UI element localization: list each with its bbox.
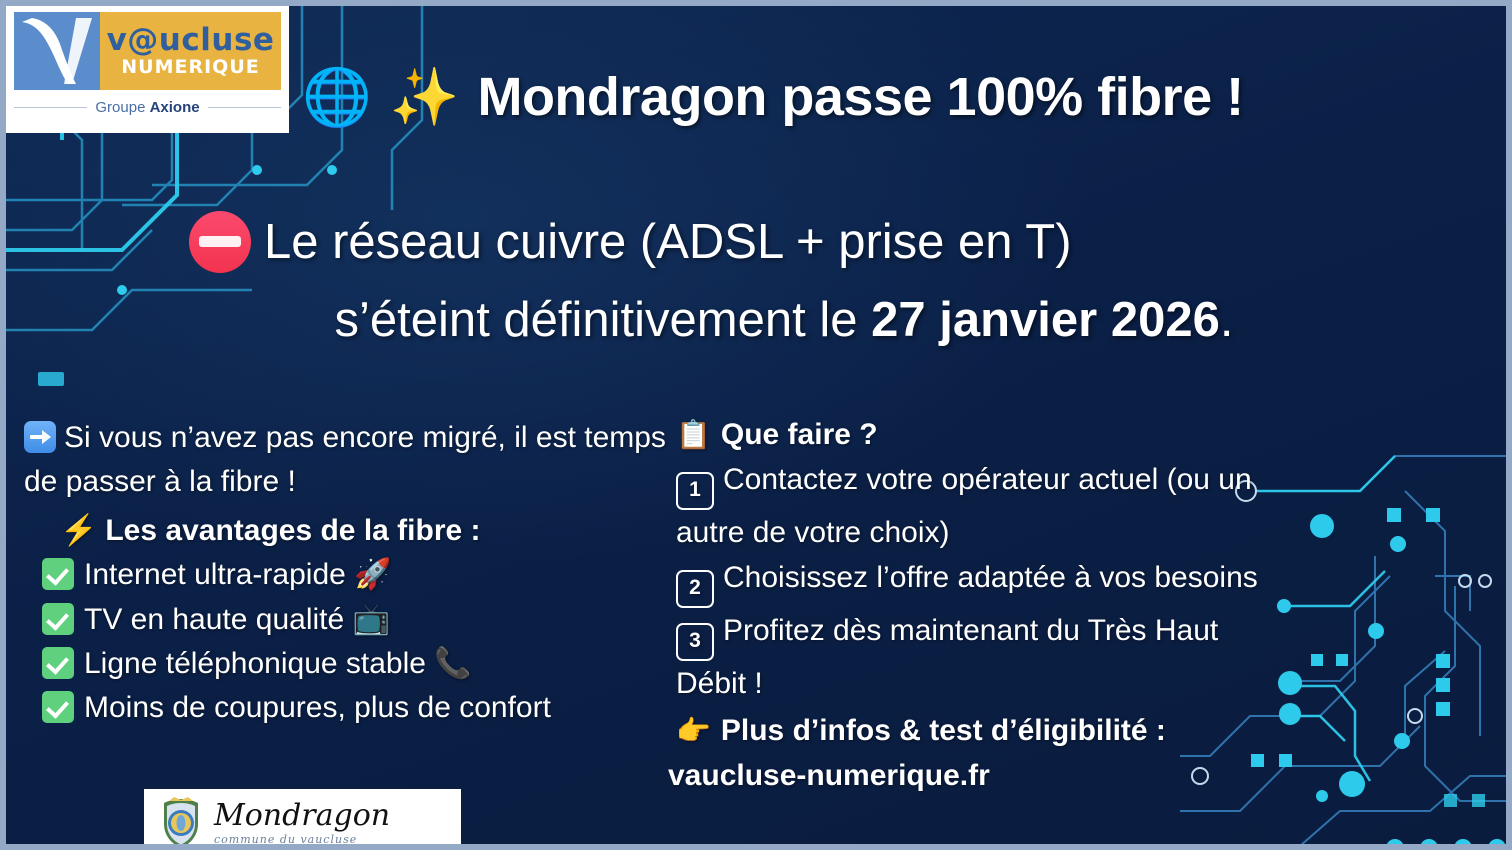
advantage-text: Internet ultra-rapide	[84, 558, 354, 591]
logo-word-numerique: NUMERIQUE	[121, 58, 259, 77]
clipboard-icon: 📋	[676, 419, 711, 450]
coat-of-arms-icon	[158, 796, 204, 850]
step-number-badge: 2	[676, 570, 714, 608]
high-voltage-icon: ⚡	[60, 514, 97, 547]
logo-top-band: v@ucluse NUMERIQUE	[14, 12, 281, 90]
check-mark-button-icon	[42, 647, 74, 679]
logo-rule-left	[14, 107, 87, 108]
globe-with-meridians-icon: 🌐	[302, 69, 372, 125]
what-to-do-title-row: 📋Que faire ?	[676, 412, 1268, 457]
shutdown-date: 27 janvier 2026	[871, 293, 1220, 347]
step-text: Contactez votre opérateur actuel (ou un …	[676, 463, 1252, 549]
mondragon-subtitle: commune du vaucluse	[214, 834, 390, 845]
subheadline-text-1: Le réseau cuivre (ADSL + prise en T)	[264, 214, 1072, 270]
cta-row[interactable]: 👉Plus d’infos & test d’éligibilité :	[676, 708, 1268, 753]
check-mark-button-icon	[42, 691, 74, 723]
backhand-index-pointing-right-icon: 👉	[676, 715, 711, 746]
page-title: Mondragon passe 100% fibre !	[477, 66, 1243, 128]
advantage-item: Moins de coupures, plus de confort	[42, 686, 674, 730]
subheadline-line-2: s’éteint définitivement le 27 janvier 20…	[184, 292, 1424, 348]
v-glyph-icon	[14, 12, 100, 90]
check-mark-button-icon	[42, 603, 74, 635]
sparkles-icon: ✨	[390, 69, 460, 125]
fiber-migration-poster: v@ucluse NUMERIQUE Groupe Axione 🌐 ✨ Mon…	[0, 0, 1512, 850]
cta-url[interactable]: vaucluse-numerique.fr	[668, 753, 1268, 798]
advantage-item: TV en haute qualité 📺	[42, 598, 674, 642]
right-column: 📋Que faire ? 1Contactez votre opérateur …	[668, 412, 1268, 798]
logo-group-text: Groupe Axione	[95, 99, 199, 116]
subheadline-line-1: Le réseau cuivre (ADSL + prise en T)	[184, 206, 1424, 278]
left-column: Si vous n’avez pas encore migré, il est …	[24, 416, 674, 731]
cta-label: Plus d’infos & test d’éligibilité :	[721, 714, 1166, 747]
advantage-item: Internet ultra-rapide 🚀	[42, 553, 674, 597]
step-text: Choisissez l’offre adaptée à vos besoins	[723, 561, 1258, 594]
logo-v-mark	[14, 12, 100, 90]
advantages-title: Les avantages de la fibre :	[105, 514, 480, 547]
mondragon-commune-logo: Mondragon commune du vaucluse	[144, 789, 461, 850]
step-item: 1Contactez votre opérateur actuel (ou un…	[676, 457, 1268, 555]
subheadline-prefix: s’éteint définitivement le	[335, 293, 872, 347]
headline: 🌐 ✨ Mondragon passe 100% fibre !	[302, 66, 1244, 128]
check-mark-button-icon	[42, 558, 74, 590]
step-number-badge: 3	[676, 623, 714, 661]
no-entry-icon	[184, 206, 256, 278]
migration-intro-row: Si vous n’avez pas encore migré, il est …	[24, 416, 674, 505]
advantage-item: Ligne téléphonique stable 📞	[42, 642, 674, 686]
logo-word-vaucluse: v@ucluse	[107, 25, 275, 56]
step-item: 3Profitez dès maintenant du Très Haut Dé…	[676, 608, 1268, 706]
advantage-text: Ligne téléphonique stable	[84, 647, 434, 680]
telephone-receiver-icon: 📞	[434, 647, 471, 680]
advantage-text: Moins de coupures, plus de confort	[84, 691, 551, 724]
advantages-title-row: ⚡Les avantages de la fibre :	[60, 509, 674, 553]
subheadline-suffix: .	[1220, 293, 1234, 347]
logo-wordmark: v@ucluse NUMERIQUE	[100, 12, 281, 90]
migration-intro-text: Si vous n’avez pas encore migré, il est …	[24, 421, 666, 498]
step-number-badge: 1	[676, 472, 714, 510]
vaucluse-numerique-logo: v@ucluse NUMERIQUE Groupe Axione	[6, 6, 289, 133]
step-text: Profitez dès maintenant du Très Haut Déb…	[676, 614, 1218, 700]
what-to-do-title: Que faire ?	[721, 418, 878, 451]
television-icon: 📺	[353, 603, 390, 636]
right-arrow-button-icon	[24, 421, 56, 453]
rocket-icon: 🚀	[354, 558, 391, 591]
mondragon-wordmark: Mondragon commune du vaucluse	[214, 801, 390, 845]
subheadline: Le réseau cuivre (ADSL + prise en T) s’é…	[184, 206, 1424, 348]
step-item: 2Choisissez l’offre adaptée à vos besoin…	[676, 555, 1268, 608]
advantage-text: TV en haute qualité	[84, 603, 353, 636]
logo-group-line: Groupe Axione	[14, 90, 281, 124]
logo-rule-right	[208, 107, 281, 108]
mondragon-name: Mondragon	[214, 801, 390, 831]
